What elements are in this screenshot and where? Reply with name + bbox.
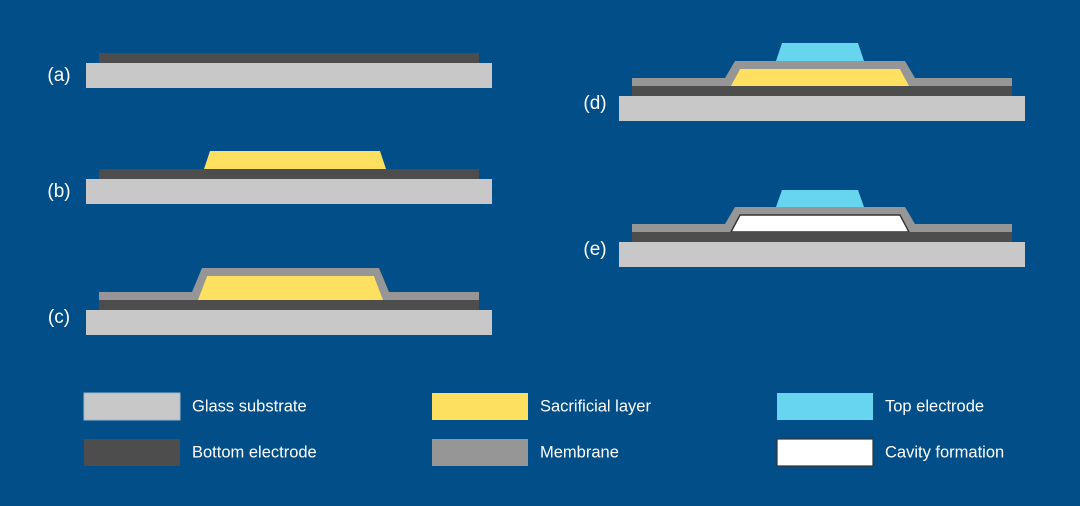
panel-e-bottom-electrode xyxy=(632,232,1012,242)
top-electrode-swatch xyxy=(777,393,873,420)
legend-label-glass-substrate: Glass substrate xyxy=(192,397,307,415)
panel-d-bottom-electrode xyxy=(632,86,1012,96)
panel-e-glass-substrate xyxy=(619,242,1025,267)
panel-a: (a) xyxy=(47,53,492,88)
process-flow-figure: (a) (b) (c) (d) xyxy=(0,0,1080,506)
panel-a-glass-substrate xyxy=(86,63,492,88)
legend-label-bottom-electrode: Bottom electrode xyxy=(192,443,317,461)
panel-d-sacrificial-layer xyxy=(731,69,909,86)
panel-b-glass-substrate xyxy=(86,179,492,204)
panel-c-bottom-electrode xyxy=(99,300,479,310)
bottom-electrode-swatch xyxy=(84,439,180,466)
legend-label-top-electrode: Top electrode xyxy=(885,397,984,415)
panel-d-glass-substrate xyxy=(619,96,1025,121)
panel-e-top-electrode xyxy=(776,190,864,207)
cavity-formation-swatch xyxy=(777,439,873,466)
panel-e-cavity xyxy=(731,215,909,232)
panel-e-label: (e) xyxy=(583,239,606,260)
panel-c-label: (c) xyxy=(48,307,70,328)
panel-b-sacrificial-layer xyxy=(203,151,387,172)
panel-d-label: (d) xyxy=(583,93,606,114)
legend-label-sacrificial-layer: Sacrificial layer xyxy=(540,397,651,415)
legend-label-membrane: Membrane xyxy=(540,443,619,461)
membrane-swatch xyxy=(432,439,528,466)
panel-c-glass-substrate xyxy=(86,310,492,335)
panel-b-bottom-electrode xyxy=(99,169,479,179)
panel-a-bottom-electrode xyxy=(99,53,479,63)
panel-b-label: (b) xyxy=(47,181,70,202)
sacrificial-layer-swatch xyxy=(432,393,528,420)
panel-a-label: (a) xyxy=(47,65,70,86)
panel-c-sacrificial-layer xyxy=(198,276,383,300)
glass-substrate-swatch xyxy=(84,393,180,420)
panel-d-top-electrode xyxy=(776,43,864,61)
legend-label-cavity-formation: Cavity formation xyxy=(885,443,1004,461)
